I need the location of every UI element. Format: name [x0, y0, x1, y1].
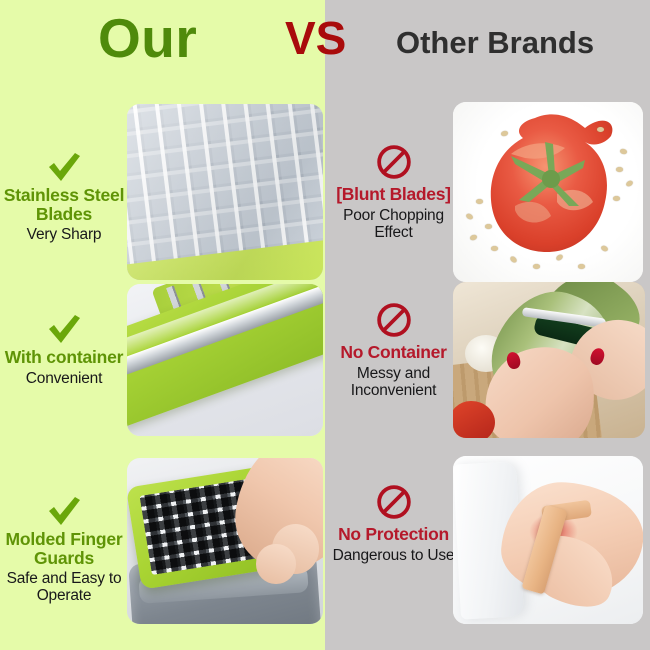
- product-photo-chopper-in-hand: [127, 458, 323, 624]
- feature-title-good-2: With container: [0, 348, 128, 367]
- feature-title-good-3: Molded Finger Guards: [0, 530, 128, 567]
- page-title-other-brands: Other Brands: [396, 27, 594, 58]
- feature-subtitle-bad-2: Messy and Inconvenient: [326, 365, 461, 399]
- feature-block-bad-3: No Protection Dangerous to Use: [326, 484, 461, 564]
- page-title-our: Our: [98, 11, 197, 66]
- feature-title-bad-1: [Blunt Blades]: [326, 185, 461, 204]
- comparison-row-2: With container Convenient No Container M…: [0, 282, 650, 452]
- prohibition-icon: [376, 484, 412, 520]
- versus-label: VS: [285, 15, 346, 61]
- check-icon: [47, 152, 81, 182]
- feature-title-good-1: Stainless Steel Blades: [0, 186, 128, 223]
- comparison-row-3: Molded Finger Guards Safe and Easy to Op…: [0, 452, 650, 632]
- product-photo-injured-hand: [453, 456, 643, 624]
- feature-block-bad-2: No Container Messy and Inconvenient: [326, 302, 461, 399]
- product-photo-mandoline-blades: [127, 284, 323, 436]
- tomato-illustration: [453, 102, 643, 282]
- check-icon: [47, 314, 81, 344]
- photo-shading: [127, 104, 323, 280]
- feature-title-bad-3: No Protection: [326, 525, 461, 544]
- feature-subtitle-bad-1: Poor Chopping Effect: [326, 207, 461, 241]
- check-icon: [47, 496, 81, 526]
- comparison-infographic: Our VS Other Brands Stainless Steel Blad…: [0, 0, 650, 650]
- prohibition-icon: [376, 302, 412, 338]
- feature-subtitle-good-2: Convenient: [0, 370, 128, 387]
- middle-finger: [256, 544, 295, 584]
- prohibition-icon: [376, 144, 412, 180]
- feature-title-bad-2: No Container: [326, 343, 461, 362]
- feature-subtitle-good-3: Safe and Easy to Operate: [0, 570, 128, 604]
- header: Our VS Other Brands: [0, 0, 650, 92]
- feature-block-bad-1: [Blunt Blades] Poor Chopping Effect: [326, 144, 461, 241]
- product-photo-blade-grid: [127, 104, 323, 280]
- product-photo-crushed-tomato: [453, 102, 643, 282]
- feature-block-good-2: With container Convenient: [0, 314, 128, 387]
- feature-block-good-3: Molded Finger Guards Safe and Easy to Op…: [0, 496, 128, 604]
- comparison-row-1: Stainless Steel Blades Very Sharp [Blunt…: [0, 96, 650, 282]
- feature-subtitle-good-1: Very Sharp: [0, 226, 128, 243]
- product-photo-peeling-cucumber: [453, 282, 645, 438]
- feature-subtitle-bad-3: Dangerous to Use: [326, 547, 461, 564]
- feature-block-good-1: Stainless Steel Blades Very Sharp: [0, 152, 128, 243]
